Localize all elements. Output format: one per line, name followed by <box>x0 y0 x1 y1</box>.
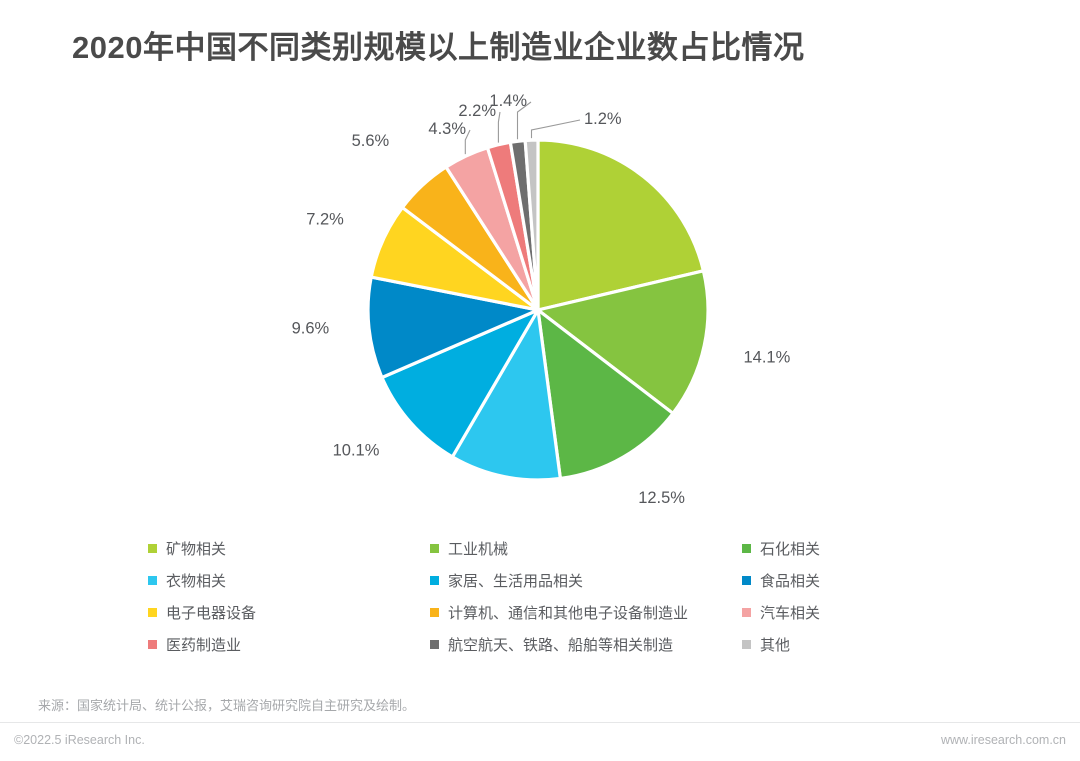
legend-swatch-icon <box>148 544 157 553</box>
source-note: 来源：国家统计局、统计公报，艾瑞咨询研究院自主研究及绘制。 <box>38 695 415 714</box>
legend-swatch-icon <box>148 608 157 617</box>
legend-item[interactable]: 家居、生活用品相关 <box>430 564 742 596</box>
legend-item-label: 电子电器设备 <box>166 602 256 623</box>
legend-swatch-icon <box>742 640 751 649</box>
legend-item[interactable]: 石化相关 <box>742 532 968 564</box>
legend-item[interactable]: 计算机、通信和其他电子设备制造业 <box>430 596 742 628</box>
legend-item[interactable]: 医药制造业 <box>148 628 430 660</box>
legend-swatch-icon <box>430 608 439 617</box>
pie-label-leader-line <box>498 112 500 143</box>
pie-slice-label: 9.6% <box>292 320 330 338</box>
legend-item-label: 计算机、通信和其他电子设备制造业 <box>448 602 688 623</box>
legend-item[interactable]: 汽车相关 <box>742 596 968 628</box>
legend-swatch-icon <box>430 576 439 585</box>
pie-slice-label: 1.2% <box>584 110 622 128</box>
pie-slice-label: 14.1% <box>744 349 791 367</box>
legend-item-label: 医药制造业 <box>166 634 241 655</box>
legend-item-label: 工业机械 <box>448 538 508 559</box>
page-title: 2020年中国不同类别规模以上制造业企业数占比情况 <box>72 22 804 67</box>
legend-swatch-icon <box>742 544 751 553</box>
legend-swatch-icon <box>430 544 439 553</box>
pie-label-leader-line <box>465 130 470 154</box>
legend-item-label: 汽车相关 <box>760 602 820 623</box>
legend-swatch-icon <box>148 640 157 649</box>
legend-item-label: 石化相关 <box>760 538 820 559</box>
legend-item[interactable]: 食品相关 <box>742 564 968 596</box>
pie-slice-label: 10.5% <box>475 518 522 520</box>
legend-item-label: 食品相关 <box>760 570 820 591</box>
pie-slice-label: 5.6% <box>352 132 390 150</box>
legend-item[interactable]: 航空航天、铁路、船舶等相关制造 <box>430 628 742 660</box>
pie-slice-label: 7.2% <box>306 211 344 229</box>
legend-swatch-icon <box>430 640 439 649</box>
footer-copyright: ©2022.5 iResearch Inc. <box>14 733 145 747</box>
legend-item-label: 家居、生活用品相关 <box>448 570 583 591</box>
footer-url: www.iresearch.com.cn <box>941 733 1066 747</box>
footer-bar: ©2022.5 iResearch Inc. www.iresearch.com… <box>0 722 1080 761</box>
legend-item[interactable]: 电子电器设备 <box>148 596 430 628</box>
legend-item-label: 矿物相关 <box>166 538 226 559</box>
legend-swatch-icon <box>742 608 751 617</box>
pie-chart: 21.3%14.1%12.5%10.5%10.1%9.6%7.2%5.6%4.3… <box>0 90 1080 520</box>
legend-item[interactable]: 工业机械 <box>430 532 742 564</box>
legend-item[interactable]: 其他 <box>742 628 968 660</box>
chart-legend: 矿物相关工业机械石化相关衣物相关家居、生活用品相关食品相关电子电器设备计算机、通… <box>148 532 968 660</box>
pie-label-leader-line <box>532 120 581 138</box>
legend-item-label: 航空航天、铁路、船舶等相关制造 <box>448 634 673 655</box>
pie-slice-label: 4.3% <box>428 120 466 138</box>
pie-slice-label: 12.5% <box>638 489 685 507</box>
pie-slices <box>368 140 708 480</box>
legend-item[interactable]: 衣物相关 <box>148 564 430 596</box>
legend-swatch-icon <box>148 576 157 585</box>
legend-swatch-icon <box>742 576 751 585</box>
pie-slice-label: 10.1% <box>333 441 380 459</box>
legend-item-label: 衣物相关 <box>166 570 226 591</box>
legend-item[interactable]: 矿物相关 <box>148 532 430 564</box>
legend-item-label: 其他 <box>760 634 790 655</box>
pie-chart-svg: 21.3%14.1%12.5%10.5%10.1%9.6%7.2%5.6%4.3… <box>0 90 1080 520</box>
pie-slice-label: 1.4% <box>489 92 527 110</box>
